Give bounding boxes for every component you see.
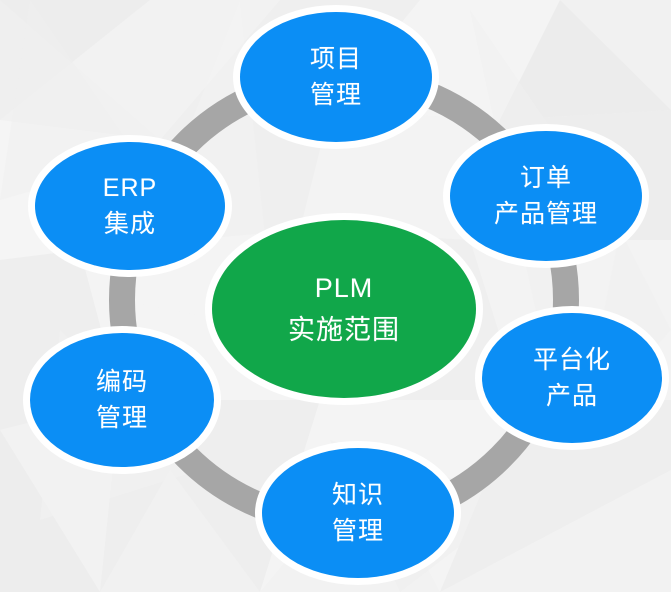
node-shapes [30, 12, 662, 578]
platform-product-node[interactable] [482, 313, 662, 443]
knowledge-management-node[interactable] [262, 448, 454, 578]
slide-canvas: PLM 实施范围 项目 管理 订单 产品管理 平台化 产品 知识 管理 编码 管… [0, 0, 671, 592]
project-management-node[interactable] [240, 12, 432, 142]
node-ellipses [0, 0, 671, 592]
order-product-management-node[interactable] [450, 131, 642, 261]
erp-integration-node[interactable] [35, 142, 225, 270]
coding-management-node[interactable] [30, 333, 214, 467]
plm-center-node[interactable] [212, 220, 476, 398]
